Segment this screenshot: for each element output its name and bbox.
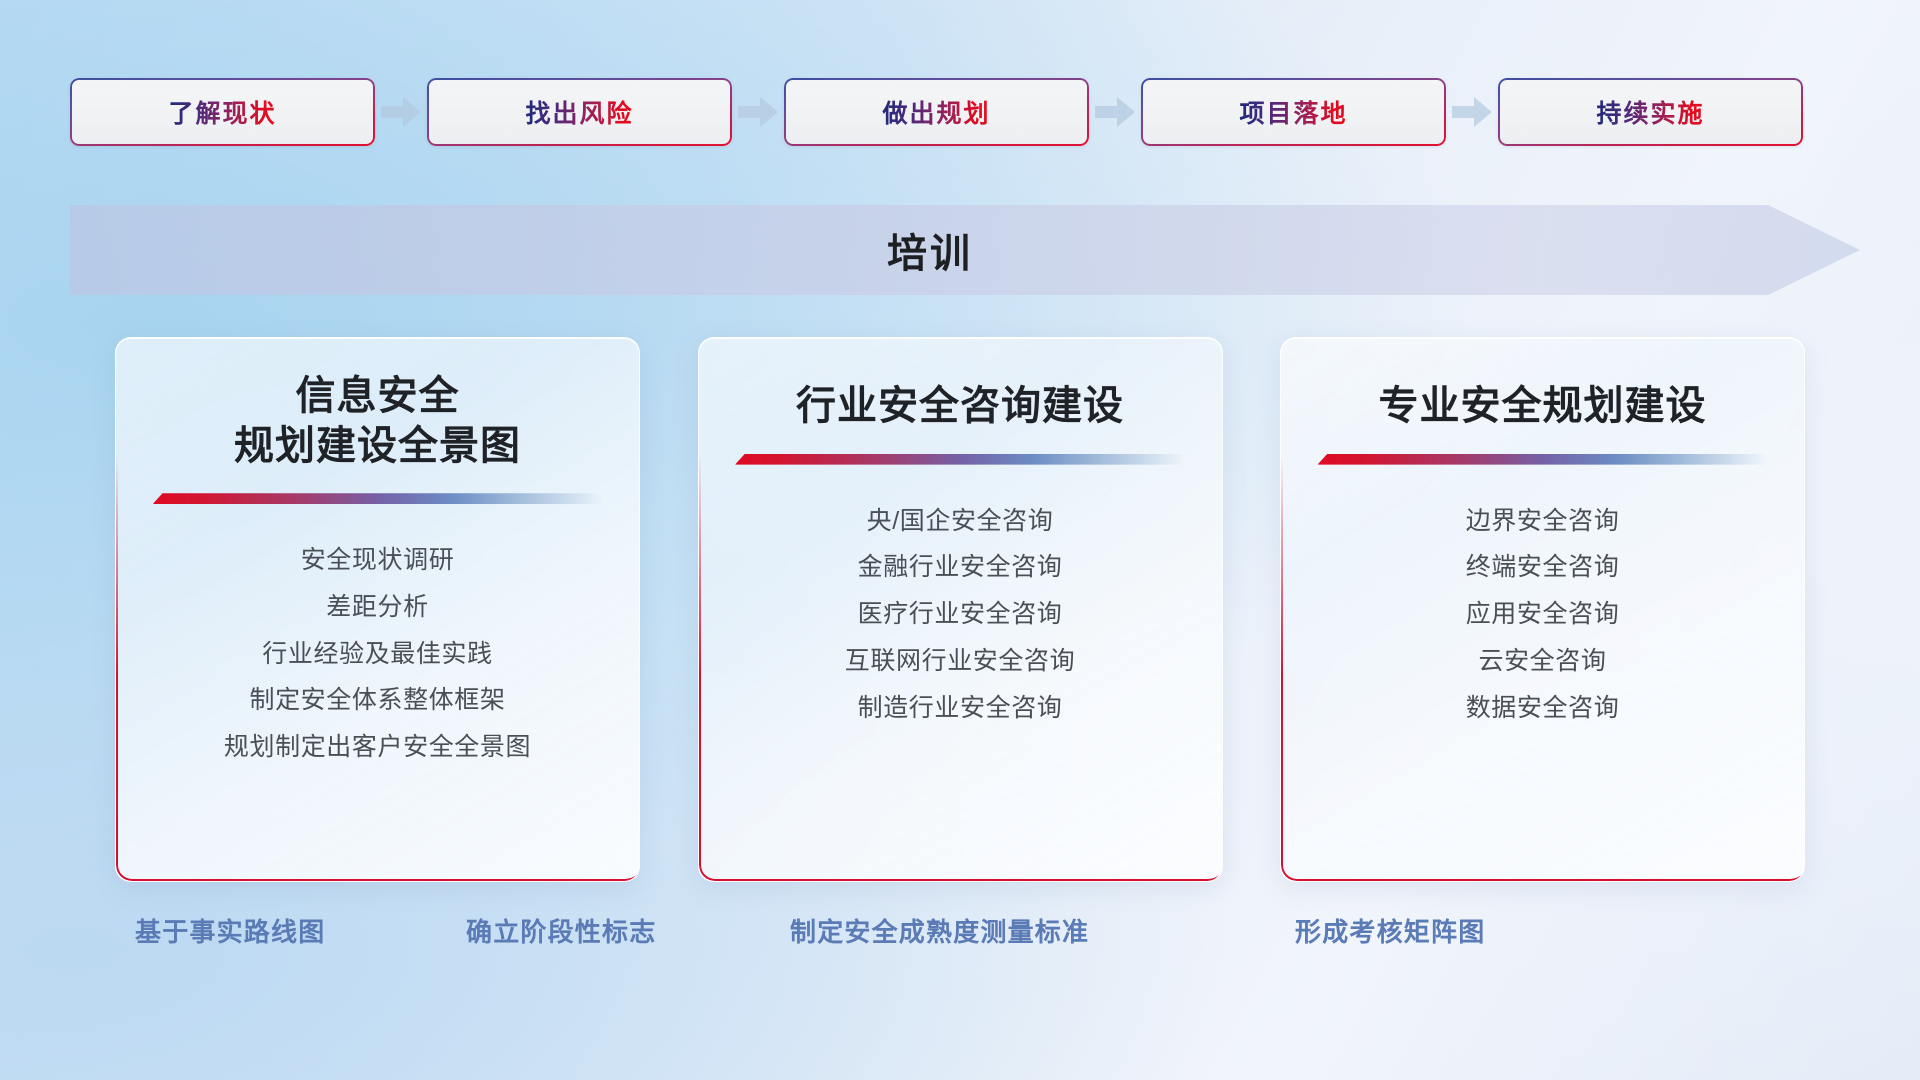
card-row: 信息安全 规划建设全景图 安全现状调研 差距分析 行业经验及最佳实践 制定安全体… (115, 337, 1805, 882)
list-item: 金融行业安全咨询 (858, 551, 1063, 585)
caption-row: 基于事实路线图 确立阶段性标志 制定安全成熟度测量标准 形成考核矩阵图 (0, 912, 1920, 960)
banner-label: 培训 (70, 205, 1860, 295)
caption-0: 基于事实路线图 (135, 912, 325, 949)
card-list-1: 央/国企安全咨询 金融行业安全咨询 医疗行业安全咨询 互联网行业安全咨询 制造行… (699, 505, 1222, 726)
step-wrap-0: 了解现状 (70, 78, 375, 146)
card-divider-1 (735, 454, 1185, 465)
card-industry-security-consulting[interactable]: 行业安全咨询建设 央/国企安全咨询 金融行业安全咨询 医疗行业安全咨询 互联网行… (698, 337, 1223, 882)
step-wrap-3: 项目落地 (1141, 78, 1446, 146)
card-title-0: 信息安全 规划建设全景图 (208, 372, 547, 471)
step-arrow-icon-3 (1446, 78, 1498, 146)
card-title-0-line-0: 信息安全 (234, 372, 521, 422)
step-label-3: 项目落地 (1239, 94, 1347, 130)
step-box-3[interactable]: 项目落地 (1141, 78, 1446, 146)
step-label-1: 找出风险 (525, 94, 633, 130)
list-item: 央/国企安全咨询 (867, 505, 1054, 539)
list-item: 行业经验及最佳实践 (262, 638, 492, 672)
step-wrap-1: 找出风险 (427, 78, 732, 146)
card-title-0-line-1: 规划建设全景图 (234, 422, 521, 472)
step-box-1[interactable]: 找出风险 (427, 78, 732, 146)
card-divider-0 (153, 493, 603, 504)
card-title-1-line-0: 行业安全咨询建设 (796, 382, 1124, 432)
list-item: 应用安全咨询 (1466, 598, 1620, 632)
card-title-2-line-0: 专业安全规划建设 (1379, 382, 1707, 432)
list-item: 安全现状调研 (301, 544, 455, 578)
list-item: 边界安全咨询 (1466, 505, 1620, 539)
step-box-4[interactable]: 持续实施 (1498, 78, 1803, 146)
caption-2: 制定安全成熟度测量标准 (790, 912, 1089, 949)
list-item: 规划制定出客户安全全景图 (224, 731, 531, 765)
list-item: 医疗行业安全咨询 (858, 598, 1063, 632)
caption-1: 确立阶段性标志 (466, 912, 656, 949)
card-list-2: 边界安全咨询 终端安全咨询 应用安全咨询 云安全咨询 数据安全咨询 (1281, 505, 1804, 726)
list-item: 制定安全体系整体框架 (249, 684, 505, 718)
list-item: 终端安全咨询 (1466, 551, 1620, 585)
card-professional-security-planning[interactable]: 专业安全规划建设 边界安全咨询 终端安全咨询 应用安全咨询 云安全咨询 数据安全… (1280, 337, 1805, 882)
step-arrow-icon-1 (732, 78, 784, 146)
card-divider-2 (1318, 454, 1768, 465)
step-label-2: 做出规划 (882, 94, 990, 130)
step-box-0[interactable]: 了解现状 (70, 78, 375, 146)
process-step-flow: 了解现状 找出风险 做出规划 项目落地 (70, 78, 1860, 146)
step-label-0: 了解现状 (168, 94, 276, 130)
card-list-0: 安全现状调研 差距分析 行业经验及最佳实践 制定安全体系整体框架 规划制定出客户… (116, 544, 639, 765)
step-wrap-4: 持续实施 (1498, 78, 1803, 146)
training-banner: 培训 (70, 205, 1860, 295)
list-item: 云安全咨询 (1478, 645, 1606, 679)
list-item: 差距分析 (326, 591, 428, 625)
list-item: 制造行业安全咨询 (858, 692, 1063, 726)
step-box-2[interactable]: 做出规划 (784, 78, 1089, 146)
step-arrow-icon-0 (375, 78, 427, 146)
card-information-security-blueprint[interactable]: 信息安全 规划建设全景图 安全现状调研 差距分析 行业经验及最佳实践 制定安全体… (115, 337, 640, 882)
caption-3: 形成考核矩阵图 (1295, 912, 1485, 949)
list-item: 数据安全咨询 (1466, 692, 1620, 726)
step-label-4: 持续实施 (1596, 94, 1704, 130)
list-item: 互联网行业安全咨询 (845, 645, 1075, 679)
step-arrow-icon-2 (1089, 78, 1141, 146)
card-title-1: 行业安全咨询建设 (770, 382, 1150, 432)
card-title-2: 专业安全规划建设 (1353, 382, 1733, 432)
step-wrap-2: 做出规划 (784, 78, 1089, 146)
